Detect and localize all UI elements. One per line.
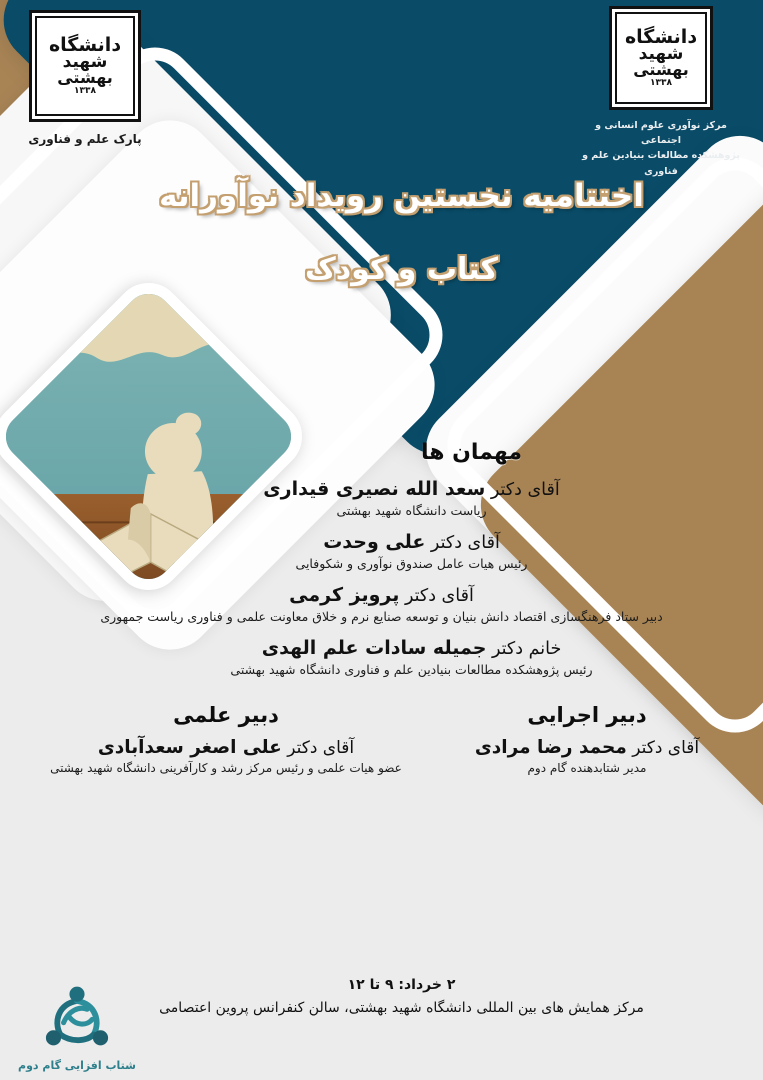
university-emblem-inner: دانشگاه شهید بهشتی ۱۳۳۸ [35,16,135,116]
guest-fullname: علی وحدت [323,531,425,553]
emblem-year: ۱۳۳۸ [49,87,121,96]
guest-prefix: آقای دکتر [431,533,500,553]
guest-name: آقای دکتر علی وحدت [60,531,763,553]
scientific-secretary-role: عضو هیات علمی و رئیس مرکز رشد و کارآفرین… [26,761,426,775]
accelerator-icon [35,979,119,1053]
guests-heading: مهمان ها [0,440,763,465]
university-emblem-inner-right: دانشگاه شهید بهشتی ۱۳۳۸ [615,12,707,104]
executive-secretary-title: دبیر اجرایی [437,703,737,727]
executive-secretary-name: آقای دکتر محمد رضا مرادی [437,737,737,758]
guest-entry: خانم دکتر جمیله سادات علم الهدی رئیس پژو… [0,637,763,677]
logo-right-caption-line1: مرکز نوآوری علوم انسانی و اجتماعی [581,118,741,148]
scientific-secretary-title: دبیر علمی [26,703,426,727]
guest-name: خانم دکتر جمیله سادات علم الهدی [60,637,763,659]
logo-right-caption-line2: پژوهشکده مطالعات بنیادین علم و فناوری [581,148,741,178]
executive-secretary: دبیر اجرایی آقای دکتر محمد رضا مرادی مدی… [437,703,737,775]
guest-role: رئیس پژوهشکده مطالعات بنیادین علم و فناو… [60,662,763,677]
university-emblem-box-right: دانشگاه شهید بهشتی ۱۳۳۸ [609,6,713,110]
guest-fullname: پرویز کرمی [289,584,399,606]
university-emblem-calligraphy: دانشگاه شهید بهشتی ۱۳۳۸ [49,36,121,96]
logo-humanities-innovation-center: دانشگاه شهید بهشتی ۱۳۳۸ مرکز نوآوری علوم… [581,6,741,179]
logo-left-caption: پارک علم و فناوری [24,132,146,146]
guest-role: دبیر ستاد فرهنگسازی اقتصاد دانش بنیان و … [0,609,763,624]
scientific-secretary-prefix: آقای دکتر [287,738,354,758]
guest-fullname: جمیله سادات علم الهدی [262,637,487,659]
guest-name: آقای دکتر پرویز کرمی [0,584,763,606]
event-venue: مرکز همایش های بین المللی دانشگاه شهید ب… [40,1000,763,1016]
logo-right-caption: مرکز نوآوری علوم انسانی و اجتماعی پژوهشک… [581,118,741,179]
guest-prefix: آقای دکتر [405,586,474,606]
guest-role: ریاست دانشگاه شهید بهشتی [60,503,763,518]
accelerator-caption: شتاب افزایی گام دوم [12,1059,142,1072]
accelerator-logo: شتاب افزایی گام دوم [12,979,142,1072]
executive-secretary-role: مدیر شتابدهنده گام دوم [437,761,737,775]
scientific-secretary-fullname: علی اصغر سعدآبادی [98,737,282,758]
guest-entry: آقای دکتر سعد الله نصیری قیداری ریاست دا… [0,478,763,518]
guest-prefix: آقای دکتر [491,480,560,500]
executive-secretary-prefix: آقای دکتر [632,738,699,758]
guest-entry: آقای دکتر پرویز کرمی دبیر ستاد فرهنگسازی… [0,584,763,624]
scientific-secretary-name: آقای دکتر علی اصغر سعدآبادی [26,737,426,758]
poster-title: اختتامیه نخستین رویداد نوآورانه کتاب و ک… [0,178,763,287]
poster-title-line-2: کتاب و کودک [40,252,763,287]
emblem-right-line-3: بهشتی [625,62,697,78]
guest-entry: آقای دکتر علی وحدت رئیس هیات عامل صندوق … [0,531,763,571]
guest-prefix: خانم دکتر [492,639,561,659]
executive-secretary-fullname: محمد رضا مرادی [475,737,627,758]
university-emblem-box: دانشگاه شهید بهشتی ۱۳۳۸ [29,10,141,122]
university-emblem-calligraphy-right: دانشگاه شهید بهشتی ۱۳۳۸ [625,28,697,88]
emblem-right-year: ۱۳۳۸ [625,79,697,88]
guest-name: آقای دکتر سعد الله نصیری قیداری [60,478,763,500]
guest-role: رئیس هیات عامل صندوق نوآوری و شکوفایی [60,556,763,571]
scientific-secretary: دبیر علمی آقای دکتر علی اصغر سعدآبادی عض… [26,703,426,775]
poster-content: مهمان ها آقای دکتر سعد الله نصیری قیداری… [0,440,763,775]
logo-science-technology-park: دانشگاه شهید بهشتی ۱۳۳۸ پارک علم و فناور… [24,10,146,146]
event-poster: دانشگاه شهید بهشتی ۱۳۳۸ پارک علم و فناور… [0,0,763,1080]
secretaries-section: دبیر علمی آقای دکتر علی اصغر سعدآبادی عض… [0,703,763,775]
poster-title-line-1: اختتامیه نخستین رویداد نوآورانه [40,178,763,214]
emblem-line-3: بهشتی [49,70,121,86]
event-date: ۲ خرداد: ۹ تا ۱۲ [40,977,763,993]
guest-fullname: سعد الله نصیری قیداری [263,478,485,500]
